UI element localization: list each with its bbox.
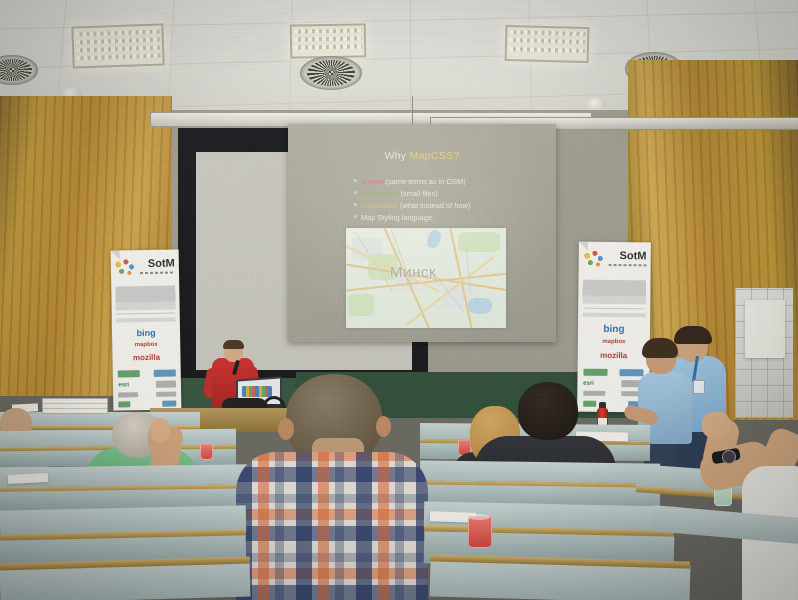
bullet-keyword: Declarative <box>361 201 398 210</box>
sponsor-logo <box>118 370 140 377</box>
banner-divider <box>584 308 645 310</box>
bullet-emphasis: how <box>454 201 468 210</box>
wall-panel <box>745 300 785 358</box>
bullet-text: instead of <box>418 201 454 210</box>
sponsor-row-3 <box>583 391 644 397</box>
banner-sponsors-label <box>112 317 180 322</box>
banner-logo: SotM <box>579 249 651 272</box>
drink-cup-rim <box>468 514 490 520</box>
bullet-text: (same terms as in OSM) <box>384 177 466 186</box>
conference-badge <box>693 380 705 394</box>
sotm-logo-text: SotM <box>148 257 175 269</box>
sponsor-row-2: esri <box>118 380 175 388</box>
sponsor-mozilla: mozilla <box>578 351 650 361</box>
sponsor-logo <box>119 392 139 397</box>
book-stack <box>42 398 108 414</box>
ceiling-vent <box>300 56 362 90</box>
banner-sponsors-label <box>578 313 650 318</box>
slide-title-part1: Why <box>384 150 409 162</box>
bullet-emphasis: what <box>402 201 418 210</box>
list-item: Declarative (what instead of how) <box>354 201 470 212</box>
sponsor-mapbox: mapbox <box>112 341 180 348</box>
sponsor-row-1 <box>583 369 644 377</box>
sponsor-logo <box>583 401 596 407</box>
slide-bullet-list: Simple (same terms as in OSM) Lightweigh… <box>314 177 470 224</box>
drink-cup <box>200 444 213 460</box>
sponsor-logo <box>583 391 605 396</box>
sotm-banner-left: SotM bing mapbox mozilla esri <box>111 249 182 410</box>
ceiling-light-panel <box>290 23 367 58</box>
sponsor-logo <box>620 369 644 376</box>
sponsor-logo <box>153 369 175 376</box>
sponsor-logo <box>155 380 175 387</box>
bullet-keyword: Map Styling language <box>361 213 432 222</box>
drink-cup <box>468 516 492 548</box>
bullet-text: (small files) <box>398 189 437 198</box>
sponsor-logo <box>156 391 176 396</box>
sponsor-logo <box>119 401 131 407</box>
standing-attendee-2-hair <box>642 338 678 358</box>
sotm-dots-icon <box>114 259 136 276</box>
lecture-hall-photo: Why MapCSS? Simple (same terms as in OSM… <box>0 0 798 600</box>
bullet-dot-icon <box>354 191 357 194</box>
slide-title: Why MapCSS? <box>288 150 556 162</box>
presenter-hair <box>223 340 244 349</box>
banner-divider <box>117 313 174 315</box>
bullet-keyword: Simple <box>361 177 384 186</box>
smoke-detector <box>586 98 606 110</box>
sponsor-bing: bing <box>112 327 180 338</box>
bullet-text: ) <box>468 201 470 210</box>
sponsor-row-2: esri <box>583 380 644 388</box>
list-item: Simple (same terms as in OSM) <box>354 177 470 188</box>
bullet-dot-icon <box>354 179 357 182</box>
list-item: Lightweight (small files) <box>354 189 470 200</box>
sponsor-row-4 <box>119 400 176 407</box>
sotm-logo-underline <box>140 271 175 274</box>
sponsor-logo <box>583 369 607 376</box>
slide-map-image: Минск <box>346 228 506 328</box>
sponsor-esri: esri <box>118 382 129 388</box>
sotm-logo-text: SotM <box>619 250 646 262</box>
sponsor-bing: bing <box>578 324 650 336</box>
banner-welcome-line-3 <box>578 296 650 305</box>
ceiling-light-panel <box>505 25 590 63</box>
ceiling-light-panel <box>71 23 164 68</box>
banner-welcome-line-3 <box>112 301 180 310</box>
sponsor-mozilla: mozilla <box>112 352 180 362</box>
audience-member-plaid-ear-right <box>376 416 391 437</box>
audience-member-watch-hand <box>702 412 730 438</box>
map-city-label: Минск <box>390 264 436 281</box>
sotm-dots-icon <box>582 251 604 268</box>
list-item: Map Styling language <box>354 213 470 224</box>
bullet-keyword: Lightweight <box>361 189 398 198</box>
audience-member-green-hand <box>150 418 170 442</box>
slide-title-part2: MapCSS? <box>410 150 460 162</box>
screen-pull-cord <box>412 96 413 126</box>
bullet-dot-icon <box>354 215 357 218</box>
projection-screen: Why MapCSS? Simple (same terms as in OSM… <box>288 124 556 342</box>
sponsor-mapbox: mapbox <box>578 339 650 346</box>
sponsor-esri: esri <box>583 380 594 386</box>
sotm-logo-underline <box>609 264 646 266</box>
sponsor-logo <box>162 400 176 406</box>
audience-member-plaid-torso <box>236 452 428 600</box>
audience-member-dark-head <box>518 382 578 440</box>
audience-member-plaid-ear-left <box>278 418 294 440</box>
banner-logo: SotM <box>111 256 179 279</box>
laptop-screen-content <box>242 386 272 397</box>
standing-attendee-1-hair <box>674 326 712 344</box>
sponsor-row-1 <box>118 369 175 377</box>
sponsor-row-3 <box>119 391 176 397</box>
bullet-dot-icon <box>354 203 357 206</box>
